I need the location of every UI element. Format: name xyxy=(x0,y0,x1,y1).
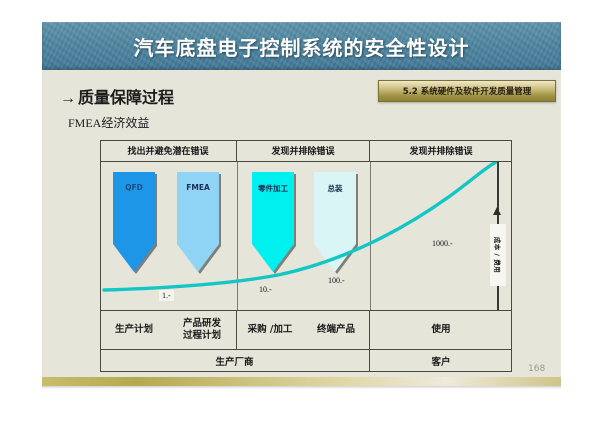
cost-curve xyxy=(100,162,512,310)
slide: 汽车底盘电子控制系统的安全性设计 5.2 系统硬件及软件开发质量管理 →质量保障… xyxy=(0,0,600,423)
bottom-accent-bar xyxy=(42,377,561,386)
stage-rnd-process-plan: 产品研发过程计划 xyxy=(168,311,237,349)
diagram-header-row: 找出并避免潜在错误 发现并排除错误 发现并排除错误 xyxy=(100,140,512,162)
column-header-find-avoid: 找出并避免潜在错误 xyxy=(100,140,237,161)
cost-label-1: 1.- xyxy=(159,290,174,301)
stage-row: 生产计划 产品研发过程计划 采购 /加工 终端产品 使用 xyxy=(100,310,512,350)
cost-label-1000: 1000.- xyxy=(432,239,453,248)
bottom-accent-shadow xyxy=(42,386,561,389)
owner-row: 生产厂商 客户 xyxy=(100,350,512,371)
cost-axis-label-text: 成本 / 费用 xyxy=(493,237,503,273)
stage-end-product: 终端产品 xyxy=(303,311,370,349)
cost-label-100: 100.- xyxy=(328,276,345,285)
section-heading: →质量保障过程 xyxy=(60,84,174,108)
slide-title-band: 汽车底盘电子控制系统的安全性设计 xyxy=(42,22,561,70)
page-number: 168 xyxy=(528,364,545,374)
stage-purchase-process: 采购 /加工 xyxy=(237,311,303,349)
arrow-right-icon: → xyxy=(60,90,76,107)
column-header-detect-remove-1: 发现并排除错误 xyxy=(237,140,370,161)
section-badge: 5.2 系统硬件及软件开发质量管理 xyxy=(378,80,556,102)
arrow-up-icon xyxy=(493,207,501,215)
stage-production-plan: 生产计划 xyxy=(100,311,168,349)
owner-manufacturer: 生产厂商 xyxy=(100,350,370,371)
page-title: 汽车底盘电子控制系统的安全性设计 xyxy=(134,32,470,61)
owner-customer: 客户 xyxy=(370,350,512,371)
diagram-caption: FMEA经济效益 xyxy=(68,114,149,131)
section-badge-label: 5.2 系统硬件及软件开发质量管理 xyxy=(403,85,532,97)
cost-axis-label: 成本 / 费用 xyxy=(490,224,506,286)
cost-label-10: 10.- xyxy=(259,285,272,294)
column-header-detect-remove-2: 发现并排除错误 xyxy=(370,140,512,161)
section-heading-label: 质量保障过程 xyxy=(78,90,174,107)
stage-usage: 使用 xyxy=(370,311,512,349)
